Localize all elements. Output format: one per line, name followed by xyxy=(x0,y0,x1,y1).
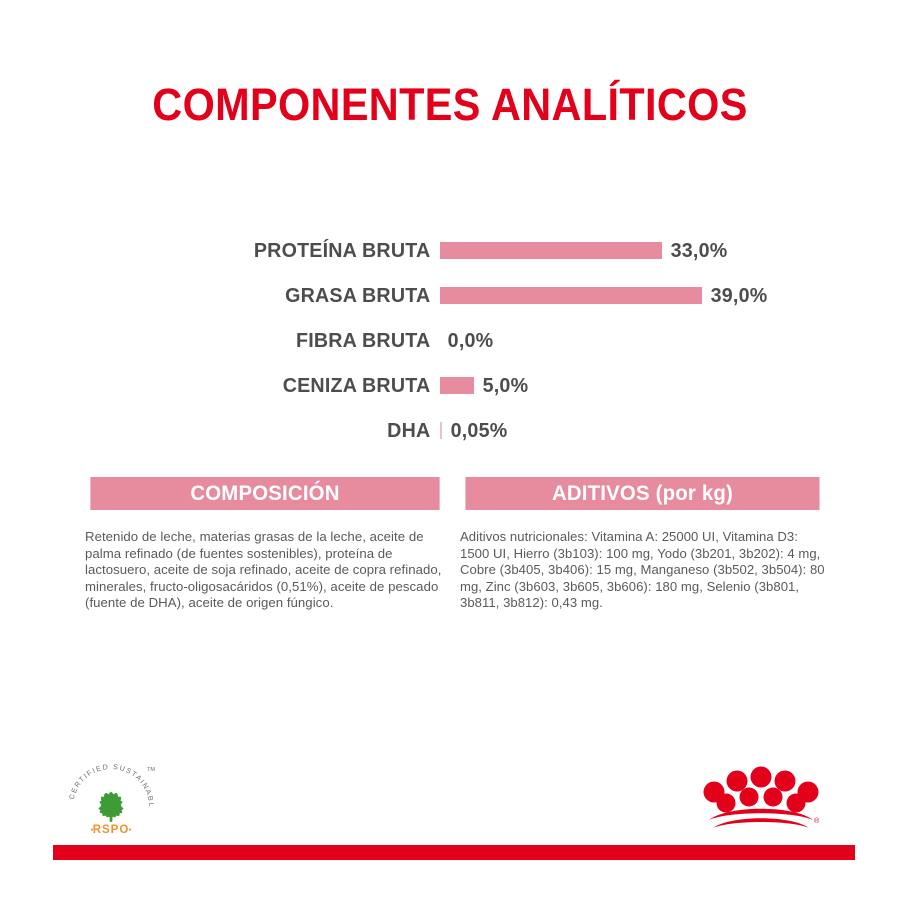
row-label-fat: GRASA BRUTA xyxy=(18,284,440,308)
royal-canin-crown-logo-icon: ® xyxy=(702,761,820,833)
product-spec-panel: COMPONENTES ANALÍTICOS PROTEÍNA BRUTA 33… xyxy=(0,0,900,900)
bar-track: 0,05% xyxy=(440,408,900,453)
rspo-certification-logo-icon: CERTIFIED SUSTAINABLE PALM OIL TM RSPO xyxy=(61,757,161,847)
table-row: CENIZA BRUTA 5,0% xyxy=(0,363,900,408)
svg-text:RSPO: RSPO xyxy=(93,824,130,836)
bar-fat xyxy=(440,287,702,304)
row-value-fibre: 0,0% xyxy=(440,329,493,353)
composition-column: COMPOSICIÓN Retenido de leche, materias … xyxy=(85,477,445,612)
additives-body: Aditivos nutricionales: Vitamina A: 2500… xyxy=(460,529,825,612)
table-row: PROTEÍNA BRUTA 33,0% xyxy=(0,228,900,273)
composition-heading: COMPOSICIÓN xyxy=(90,477,439,510)
additives-column: ADITIVOS (por kg) Aditivos nutricionales… xyxy=(460,477,825,612)
bar-protein xyxy=(440,242,662,259)
bar-track: 0,0% xyxy=(440,318,900,363)
bar-ash xyxy=(440,377,474,394)
table-row: GRASA BRUTA 39,0% xyxy=(0,273,900,318)
bar-track: 33,0% xyxy=(440,228,900,273)
additives-heading: ADITIVOS (por kg) xyxy=(465,477,819,510)
bar-track: 39,0% xyxy=(440,273,900,318)
analytical-constituents-chart: PROTEÍNA BRUTA 33,0% GRASA BRUTA 39,0% F… xyxy=(0,228,900,453)
row-label-ash: CENIZA BRUTA xyxy=(18,374,440,398)
bar-track: 5,0% xyxy=(440,363,900,408)
page-title: COMPONENTES ANALÍTICOS xyxy=(36,79,864,131)
composition-body: Retenido de leche, materias grasas de la… xyxy=(85,529,445,612)
row-value-ash: 5,0% xyxy=(474,374,528,398)
svg-text:®: ® xyxy=(814,817,820,825)
table-row: FIBRA BRUTA 0,0% xyxy=(0,318,900,363)
row-value-protein: 33,0% xyxy=(662,239,727,263)
row-value-dha: 0,05% xyxy=(442,419,507,443)
row-label-fibre: FIBRA BRUTA xyxy=(18,329,440,353)
row-label-protein: PROTEÍNA BRUTA xyxy=(18,239,440,263)
svg-text:TM: TM xyxy=(147,767,155,773)
info-columns: COMPOSICIÓN Retenido de leche, materias … xyxy=(0,477,900,612)
row-label-dha: DHA xyxy=(18,419,440,443)
row-value-fat: 39,0% xyxy=(702,284,767,308)
footer-accent-bar xyxy=(53,845,855,860)
table-row: DHA 0,05% xyxy=(0,408,900,453)
